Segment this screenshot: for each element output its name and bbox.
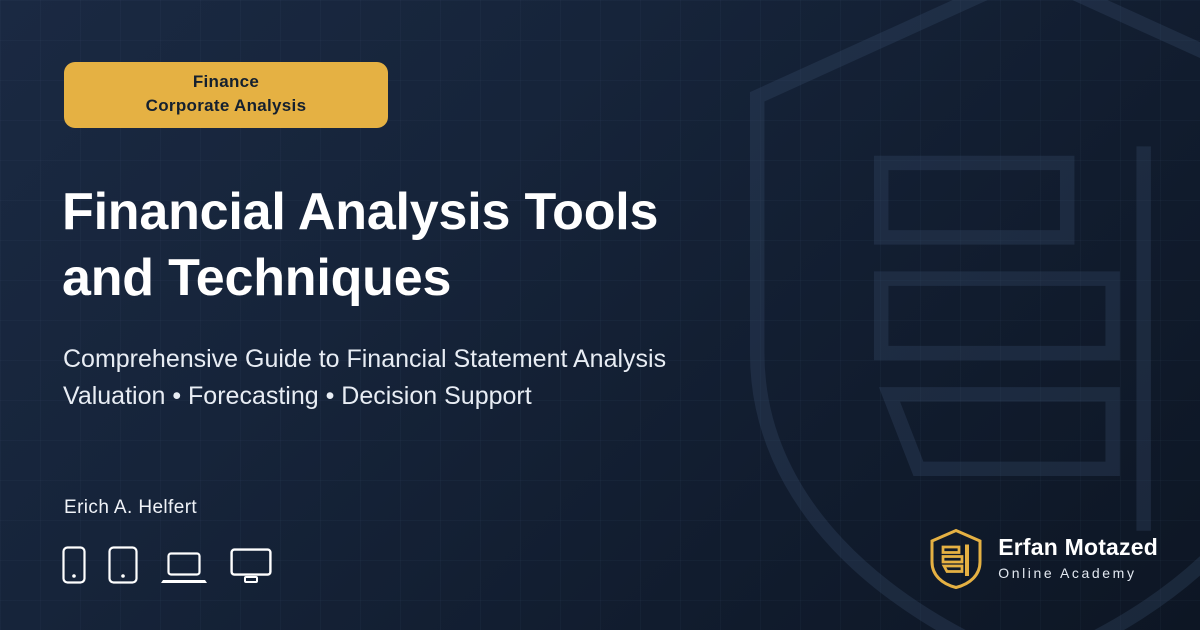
tablet-icon bbox=[108, 546, 138, 584]
brand-text-block: Erfan Motazed Online Academy bbox=[998, 534, 1158, 583]
page-title: Financial Analysis Tools and Techniques bbox=[62, 180, 802, 311]
author-name: Erich A. Helfert bbox=[64, 497, 197, 519]
subtitle-line-1: Comprehensive Guide to Financial Stateme… bbox=[63, 341, 883, 378]
supported-devices-list bbox=[62, 546, 272, 584]
brand-logo: Erfan Motazed Online Academy bbox=[928, 528, 1158, 590]
page-subtitle: Comprehensive Guide to Financial Stateme… bbox=[63, 341, 883, 415]
desktop-monitor-icon bbox=[230, 548, 272, 584]
laptop-icon bbox=[160, 550, 208, 584]
shield-em-monogram-icon bbox=[928, 528, 984, 590]
badge-line-secondary: Corporate Analysis bbox=[74, 94, 378, 118]
brand-tagline: Online Academy bbox=[998, 563, 1158, 584]
brand-name: Erfan Motazed bbox=[998, 534, 1158, 560]
title-line-2: and Techniques bbox=[62, 246, 802, 312]
mobile-phone-icon bbox=[62, 546, 86, 584]
badge-line-primary: Finance bbox=[74, 70, 378, 94]
subtitle-line-2: Valuation • Forecasting • Decision Suppo… bbox=[63, 378, 883, 415]
course-cover-card: Finance Corporate Analysis Financial Ana… bbox=[0, 0, 1200, 630]
category-badge: Finance Corporate Analysis bbox=[64, 62, 388, 128]
title-line-1: Financial Analysis Tools bbox=[62, 180, 802, 246]
